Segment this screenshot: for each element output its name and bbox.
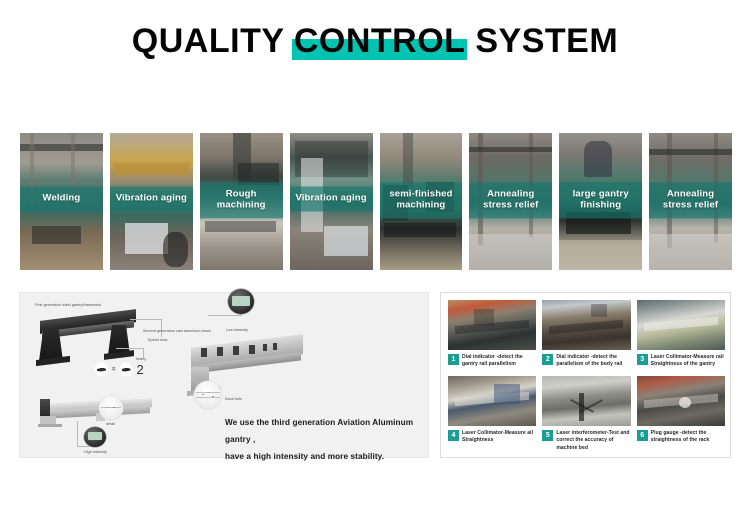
tile-caption: Annealing stress relief [472, 189, 549, 211]
speed-slow-label: Speed slow [148, 338, 168, 342]
dial-indicator-gantry-rail-photo [448, 300, 536, 350]
item-caption: Laser interferometer-Test and correct th… [556, 430, 630, 452]
leader-line [130, 319, 162, 320]
heavy-label: heavy [136, 357, 146, 361]
page-title-container: QUALITY CONTROL SYSTEM [0, 22, 750, 61]
quality-control-system-page: QUALITY CONTROL SYSTEM Welding Vibration… [0, 0, 750, 510]
low-intensity-label: Low intensity [226, 328, 248, 332]
title-highlight-word: CONTROL [294, 22, 466, 61]
process-tile-semi-finished-machining[interactable]: semi-finished machining [380, 133, 463, 270]
process-tile-welding[interactable]: Welding [20, 133, 103, 270]
inspection-caption-row: 6 Plug gauge -detect the straightness of… [637, 430, 725, 445]
leader-line [116, 348, 144, 349]
tile-caption-band: Rough machining [200, 182, 283, 218]
tile-caption: semi-finished machining [383, 189, 460, 211]
tile-caption-band: Annealing stress relief [469, 182, 552, 218]
tile-caption: Rough machining [203, 189, 280, 211]
laser-collimator-rail-photo [448, 376, 536, 426]
title-part-two: SYSTEM [465, 22, 618, 60]
item-number-badge: 5 [542, 430, 553, 441]
leader-line [208, 315, 242, 316]
laser-collimator-gantry-photo [637, 300, 725, 350]
inspection-item-2[interactable]: 2 Dial indicator -detect the parallelism… [542, 300, 630, 371]
detail-circle-inset [99, 396, 123, 420]
item-number-badge: 6 [637, 430, 648, 441]
tile-caption: Annealing stress relief [652, 189, 729, 211]
inspection-caption-row: 3 Laser Collimator-Measure rail Straight… [637, 354, 725, 369]
process-tile-rough-machining[interactable]: Rough machining [200, 133, 283, 270]
inspection-item-3[interactable]: 3 Laser Collimator-Measure rail Straight… [637, 300, 725, 371]
item-caption: Plug gauge -detect the straightness of t… [651, 430, 725, 445]
caption-line-2: have a high intensity and more stability… [225, 449, 425, 466]
low-intensity-meter-icon [228, 289, 254, 314]
tile-caption-band: large gantry finishing [559, 182, 642, 218]
process-tile-vibration-aging-1[interactable]: Vibration aging [110, 133, 193, 270]
caption-line-1: We use the third generation Aviation Alu… [225, 415, 425, 449]
inspection-caption-row: 5 Laser interferometer-Test and correct … [542, 430, 630, 452]
detail-label: detail [106, 422, 115, 426]
item-number-badge: 1 [448, 354, 459, 365]
item-caption: Laser Collimator-Measure ail Straightnes… [462, 430, 536, 445]
item-caption: Dial indicator -detect the parallelism o… [556, 354, 630, 369]
page-title: QUALITY CONTROL SYSTEM [132, 22, 618, 61]
dial-indicator-body-rail-photo [542, 300, 630, 350]
inspection-item-1[interactable]: 1 Dial indicator -detect the gantry rail… [448, 300, 536, 371]
item-caption: Laser Collimator-Measure rail Straightne… [651, 354, 725, 369]
gantry-summary-caption: We use the third generation Aviation Alu… [225, 415, 425, 465]
tile-caption-band: Annealing stress relief [649, 182, 732, 218]
sand-hole-circle-inset [194, 381, 222, 409]
leader-line [161, 319, 162, 337]
inspection-caption-row: 4 Laser Collimator-Measure ail Straightn… [448, 430, 536, 445]
hammer-hex-icon [94, 363, 109, 377]
tile-caption: Welding [23, 194, 100, 205]
inspection-methods-panel: 1 Dial indicator -detect the gantry rail… [440, 292, 731, 458]
item-caption: Dial indicator -detect the gantry rail p… [462, 354, 536, 369]
laser-interferometer-photo [542, 376, 630, 426]
second-generation-label: Second generation cast aluminum beam [143, 329, 211, 333]
inspection-item-5[interactable]: 5 Laser interferometer-Test and correct … [542, 376, 630, 452]
process-tile-large-gantry-finishing[interactable]: large gantry finishing [559, 133, 642, 270]
process-photo-strip: Welding Vibration aging Rough machining [20, 133, 732, 270]
inspection-item-4[interactable]: 4 Laser Collimator-Measure ail Straightn… [448, 376, 536, 452]
process-tile-annealing-2[interactable]: Annealing stress relief [649, 133, 732, 270]
inspection-caption-row: 2 Dial indicator -detect the parallelism… [542, 354, 630, 369]
plug-gauge-rack-photo [637, 376, 725, 426]
inspection-item-6[interactable]: 6 Plug gauge -detect the straightness of… [637, 376, 725, 452]
process-tile-annealing-1[interactable]: Annealing stress relief [469, 133, 552, 270]
inspection-caption-row: 1 Dial indicator -detect the gantry rail… [448, 354, 536, 369]
high-intensity-meter-icon [84, 427, 106, 447]
leader-line [77, 421, 78, 447]
title-part-one: QUALITY [132, 22, 294, 60]
first-generation-gantry-illustration [34, 311, 142, 365]
tile-caption: Vibration aging [293, 194, 370, 205]
tile-caption: Vibration aging [113, 194, 190, 205]
high-intensity-label: High intensity [84, 450, 107, 454]
multiplier-value: 2 [137, 362, 144, 377]
process-tile-vibration-aging-2[interactable]: Vibration aging [290, 133, 373, 270]
equals-sign: = [112, 367, 116, 373]
item-number-badge: 2 [542, 354, 553, 365]
tile-caption: large gantry finishing [562, 189, 639, 211]
gantry-generations-panel: First generation steel gantry/framework … [19, 292, 429, 458]
tile-caption-band: Vibration aging [110, 187, 193, 212]
tile-caption-band: Welding [20, 187, 103, 212]
first-generation-label: First generation steel gantry/framework [35, 303, 101, 307]
weight-comparison-icons: = 2 [94, 362, 143, 377]
hammer-hex-icon [119, 363, 134, 377]
item-number-badge: 4 [448, 430, 459, 441]
inspection-grid: 1 Dial indicator -detect the gantry rail… [448, 300, 725, 452]
tile-caption-band: semi-finished machining [380, 182, 463, 218]
sand-hole-label: Sand hole [225, 397, 242, 401]
tile-caption-band: Vibration aging [290, 187, 373, 212]
item-number-badge: 3 [637, 354, 648, 365]
